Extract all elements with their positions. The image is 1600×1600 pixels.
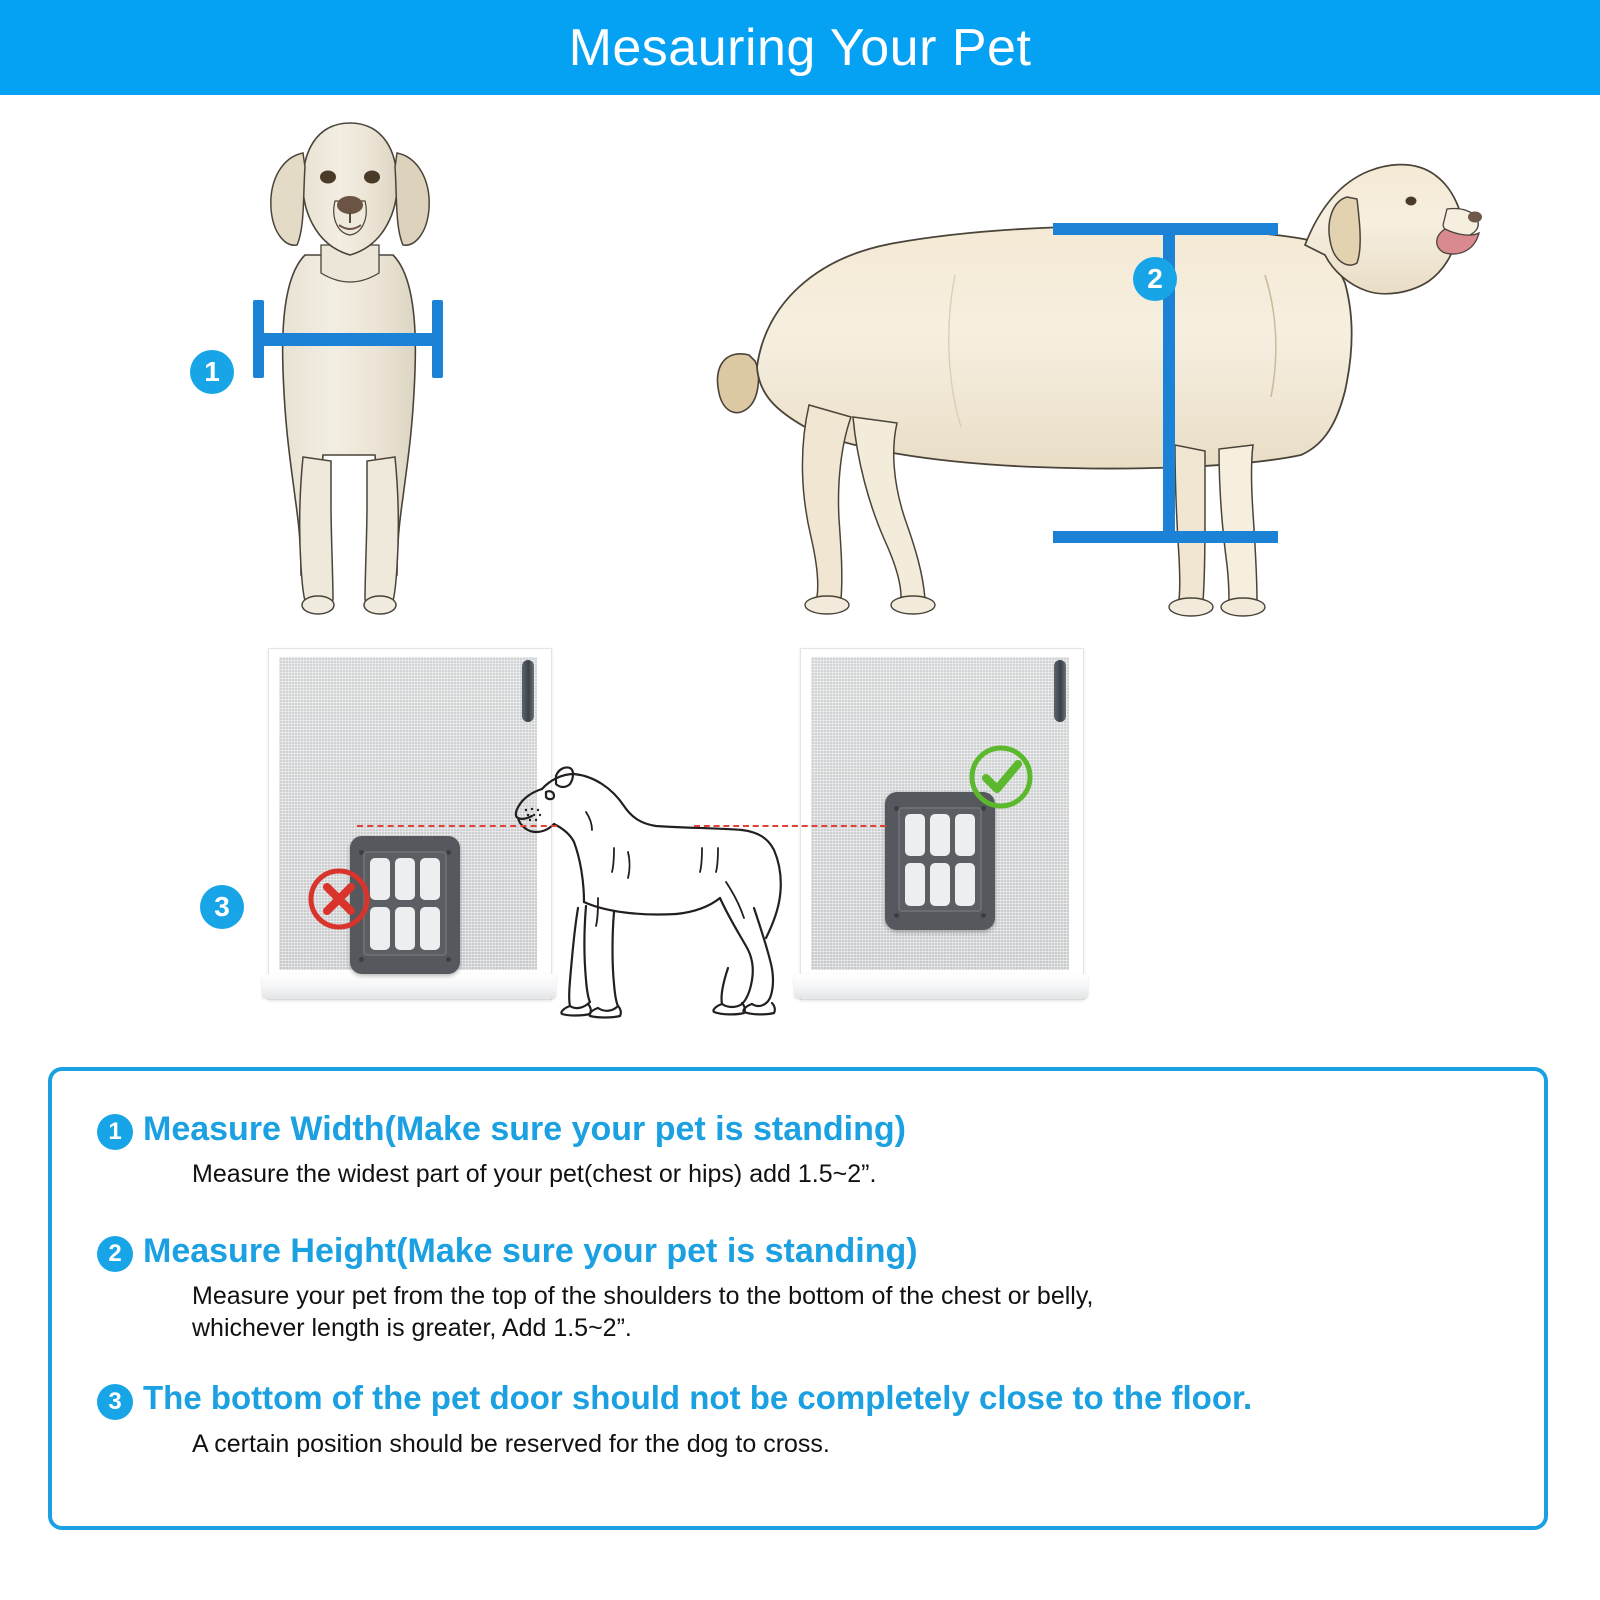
flap-pane [420,858,440,901]
screen-door-right [800,648,1082,998]
flap-screw [359,957,364,962]
instructions-box: 1 Measure Width(Make sure your pet is st… [48,1067,1548,1530]
instruction-badge-1: 1 [97,1114,133,1150]
width-bracket-span [253,333,443,346]
instruction-body-3: A certain position should be reserved fo… [192,1428,1544,1460]
instruction-badge-2: 2 [97,1236,133,1272]
instruction-heading-2: Measure Height(Make sure your pet is sta… [143,1233,918,1269]
alignment-dash-line-right [694,825,886,827]
width-measure-bracket [253,300,443,378]
badge-2: 2 [1133,257,1177,301]
door-sill-right [794,974,1088,998]
flap-screw [981,913,986,918]
instruction-item-2: 2 Measure Height(Make sure your pet is s… [52,1233,1544,1344]
flap-pane [930,863,950,906]
flap-pane [905,814,925,857]
alignment-dash-line-left [357,825,557,827]
flap-pane [930,814,950,857]
flap-pane-grid-left [363,851,447,956]
instruction-heading-3: The bottom of the pet door should not be… [143,1381,1252,1416]
instruction-item-3: 3 The bottom of the pet door should not … [52,1381,1544,1460]
door-handle-right [1054,660,1066,722]
badge-3: 3 [200,885,244,929]
flap-pane [395,858,415,901]
check-mark-icon [965,741,1037,813]
dog-outline-drawing [490,730,810,1020]
flap-pane [395,907,415,950]
badge-1: 1 [190,350,234,394]
instruction-body-2-line-1: Measure your pet from the top of the sho… [192,1280,1544,1312]
height-measure-bottom-line [1053,531,1278,543]
door-handle-left [522,660,534,722]
instruction-body-3-line-1: A certain position should be reserved fo… [192,1428,1544,1460]
instruction-badge-3: 3 [97,1384,133,1420]
flap-pane [420,907,440,950]
x-mark-icon [305,865,373,933]
instruction-body-2: Measure your pet from the top of the sho… [192,1280,1544,1344]
illustration-area: 1 [0,95,1600,1050]
flap-pane [955,814,975,857]
flap-screw [446,957,451,962]
instruction-body-2-line-2: whichever length is greater, Add 1.5~2”. [192,1312,1544,1344]
flap-screw [894,913,899,918]
instruction-heading-1: Measure Width(Make sure your pet is stan… [143,1111,906,1147]
flap-pane [905,863,925,906]
instruction-item-1: 1 Measure Width(Make sure your pet is st… [52,1111,1544,1190]
instruction-body-1-line-1: Measure the widest part of your pet(ches… [192,1158,1544,1190]
instruction-body-1: Measure the widest part of your pet(ches… [192,1158,1544,1190]
page-title: Mesauring Your Pet [569,18,1032,78]
page-header: Mesauring Your Pet [0,0,1600,95]
flap-pane-grid-right [898,807,982,912]
flap-pane [955,863,975,906]
